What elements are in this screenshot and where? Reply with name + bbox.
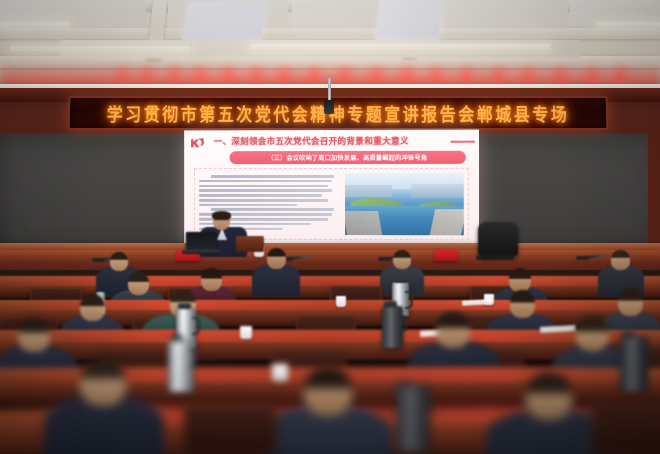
conference-hall-photo: 学习贯彻市第五次党代会精神专题宣讲报告会郸城县专场 一、深刻领会市五次党代会召开… xyxy=(0,0,660,454)
attendee xyxy=(598,250,644,292)
podium-desk-block xyxy=(236,236,264,252)
hanging-microphone-icon xyxy=(324,100,334,114)
thermos-flask xyxy=(620,336,648,392)
chair xyxy=(592,400,660,454)
laptop-screen xyxy=(186,232,216,251)
thermos-flask xyxy=(382,306,403,348)
chair xyxy=(184,404,276,454)
slide-aerial-photo xyxy=(345,173,464,235)
attendee xyxy=(262,366,392,454)
slide-title-bar: 一、深刻领会市五次党代会召开的背景和重大意义 xyxy=(184,132,479,151)
slide-subtitle-bar: （三）会议吹响了周口加快发展、高质量崛起的冲锋号角 xyxy=(230,151,466,164)
attendee xyxy=(252,248,300,292)
cup xyxy=(336,296,346,307)
led-banner: 学习贯彻市第五次党代会精神专题宣讲报告会郸城县专场 xyxy=(68,96,609,130)
laptop-base xyxy=(182,250,220,254)
led-banner-text: 学习贯彻市第五次党代会精神专题宣讲报告会郸城县专场 xyxy=(107,100,570,127)
slide-subtitle-text: （三）会议吹响了周口加快发展、高质量崛起的冲锋号角 xyxy=(267,153,427,162)
cup xyxy=(240,326,252,339)
party-emblem-icon xyxy=(189,136,206,149)
thermos-flask xyxy=(396,386,430,452)
thermos-flask xyxy=(168,340,194,392)
head-table-surface xyxy=(0,243,660,250)
slide-title: 一、深刻领会市五次党代会召开的背景和重大意义 xyxy=(214,135,409,147)
attendee xyxy=(44,358,164,454)
ceiling-light-panel xyxy=(183,2,268,40)
stage-chair xyxy=(478,222,518,256)
name-card xyxy=(434,250,458,261)
title-decoration xyxy=(451,141,475,143)
ceiling-light-panel xyxy=(376,0,443,44)
